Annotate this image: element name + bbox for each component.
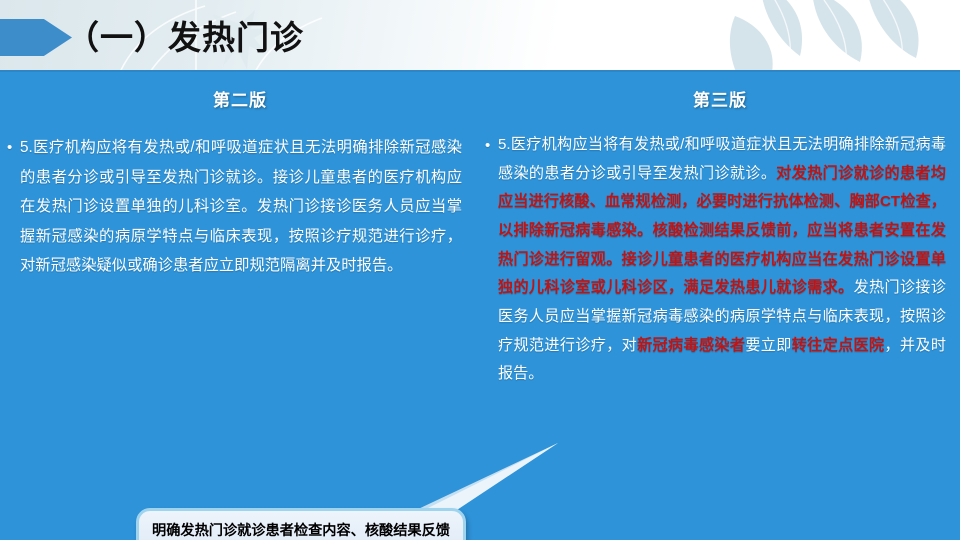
bullet-marker-right: • xyxy=(485,132,490,161)
segment-normal-3: 要立即 xyxy=(745,337,791,354)
column-second-edition: 第二版 • 5.医疗机构应将有发热或/和呼吸道症状且无法明确排除新冠感染的患者分… xyxy=(0,72,480,281)
slide-root: （一）发热门诊 第二版 • 5.医疗机构应将有发热或/和呼吸道症状且无法明确排除… xyxy=(0,0,960,540)
column-title-left: 第二版 xyxy=(0,86,480,111)
paragraph-left-text: 5.医疗机构应将有发热或/和呼吸道症状且无法明确排除新冠感染的患者分诊或引导至发… xyxy=(20,139,462,274)
paragraph-left: • 5.医疗机构应将有发热或/和呼吸道症状且无法明确排除新冠感染的患者分诊或引导… xyxy=(20,133,462,281)
segment-highlight-3: 转往定点医院 xyxy=(792,337,885,354)
callout-text: 明确发热门诊就诊患者检查内容、核酸结果反馈前留观要求；新增儿童发热门诊设置要求；… xyxy=(139,521,463,540)
segment-highlight-2: 新冠病毒感染者 xyxy=(637,337,745,354)
segment-highlight-1: 对发热门诊就诊的患者均应当进行核酸、血常规检测，必要时进行抗体检测、胸部CT检查… xyxy=(498,165,946,297)
slide-body: 第二版 • 5.医疗机构应将有发热或/和呼吸道症状且无法明确排除新冠感染的患者分… xyxy=(0,72,960,540)
slide-header: （一）发热门诊 xyxy=(0,0,960,72)
callout-box: 明确发热门诊就诊患者检查内容、核酸结果反馈前留观要求；新增儿童发热门诊设置要求；… xyxy=(136,508,466,540)
arrow-pentagon-icon xyxy=(0,19,72,56)
page-title: （一）发热门诊 xyxy=(66,11,304,59)
column-third-edition: 第三版 • 5.医疗机构应当将有发热或/和呼吸道症状且无法明确排除新冠病毒感染的… xyxy=(480,72,960,389)
column-title-right: 第三版 xyxy=(480,86,960,111)
bullet-marker-left: • xyxy=(7,134,12,163)
paragraph-right: • 5.医疗机构应当将有发热或/和呼吸道症状且无法明确排除新冠病毒感染的患者分诊… xyxy=(498,131,946,389)
